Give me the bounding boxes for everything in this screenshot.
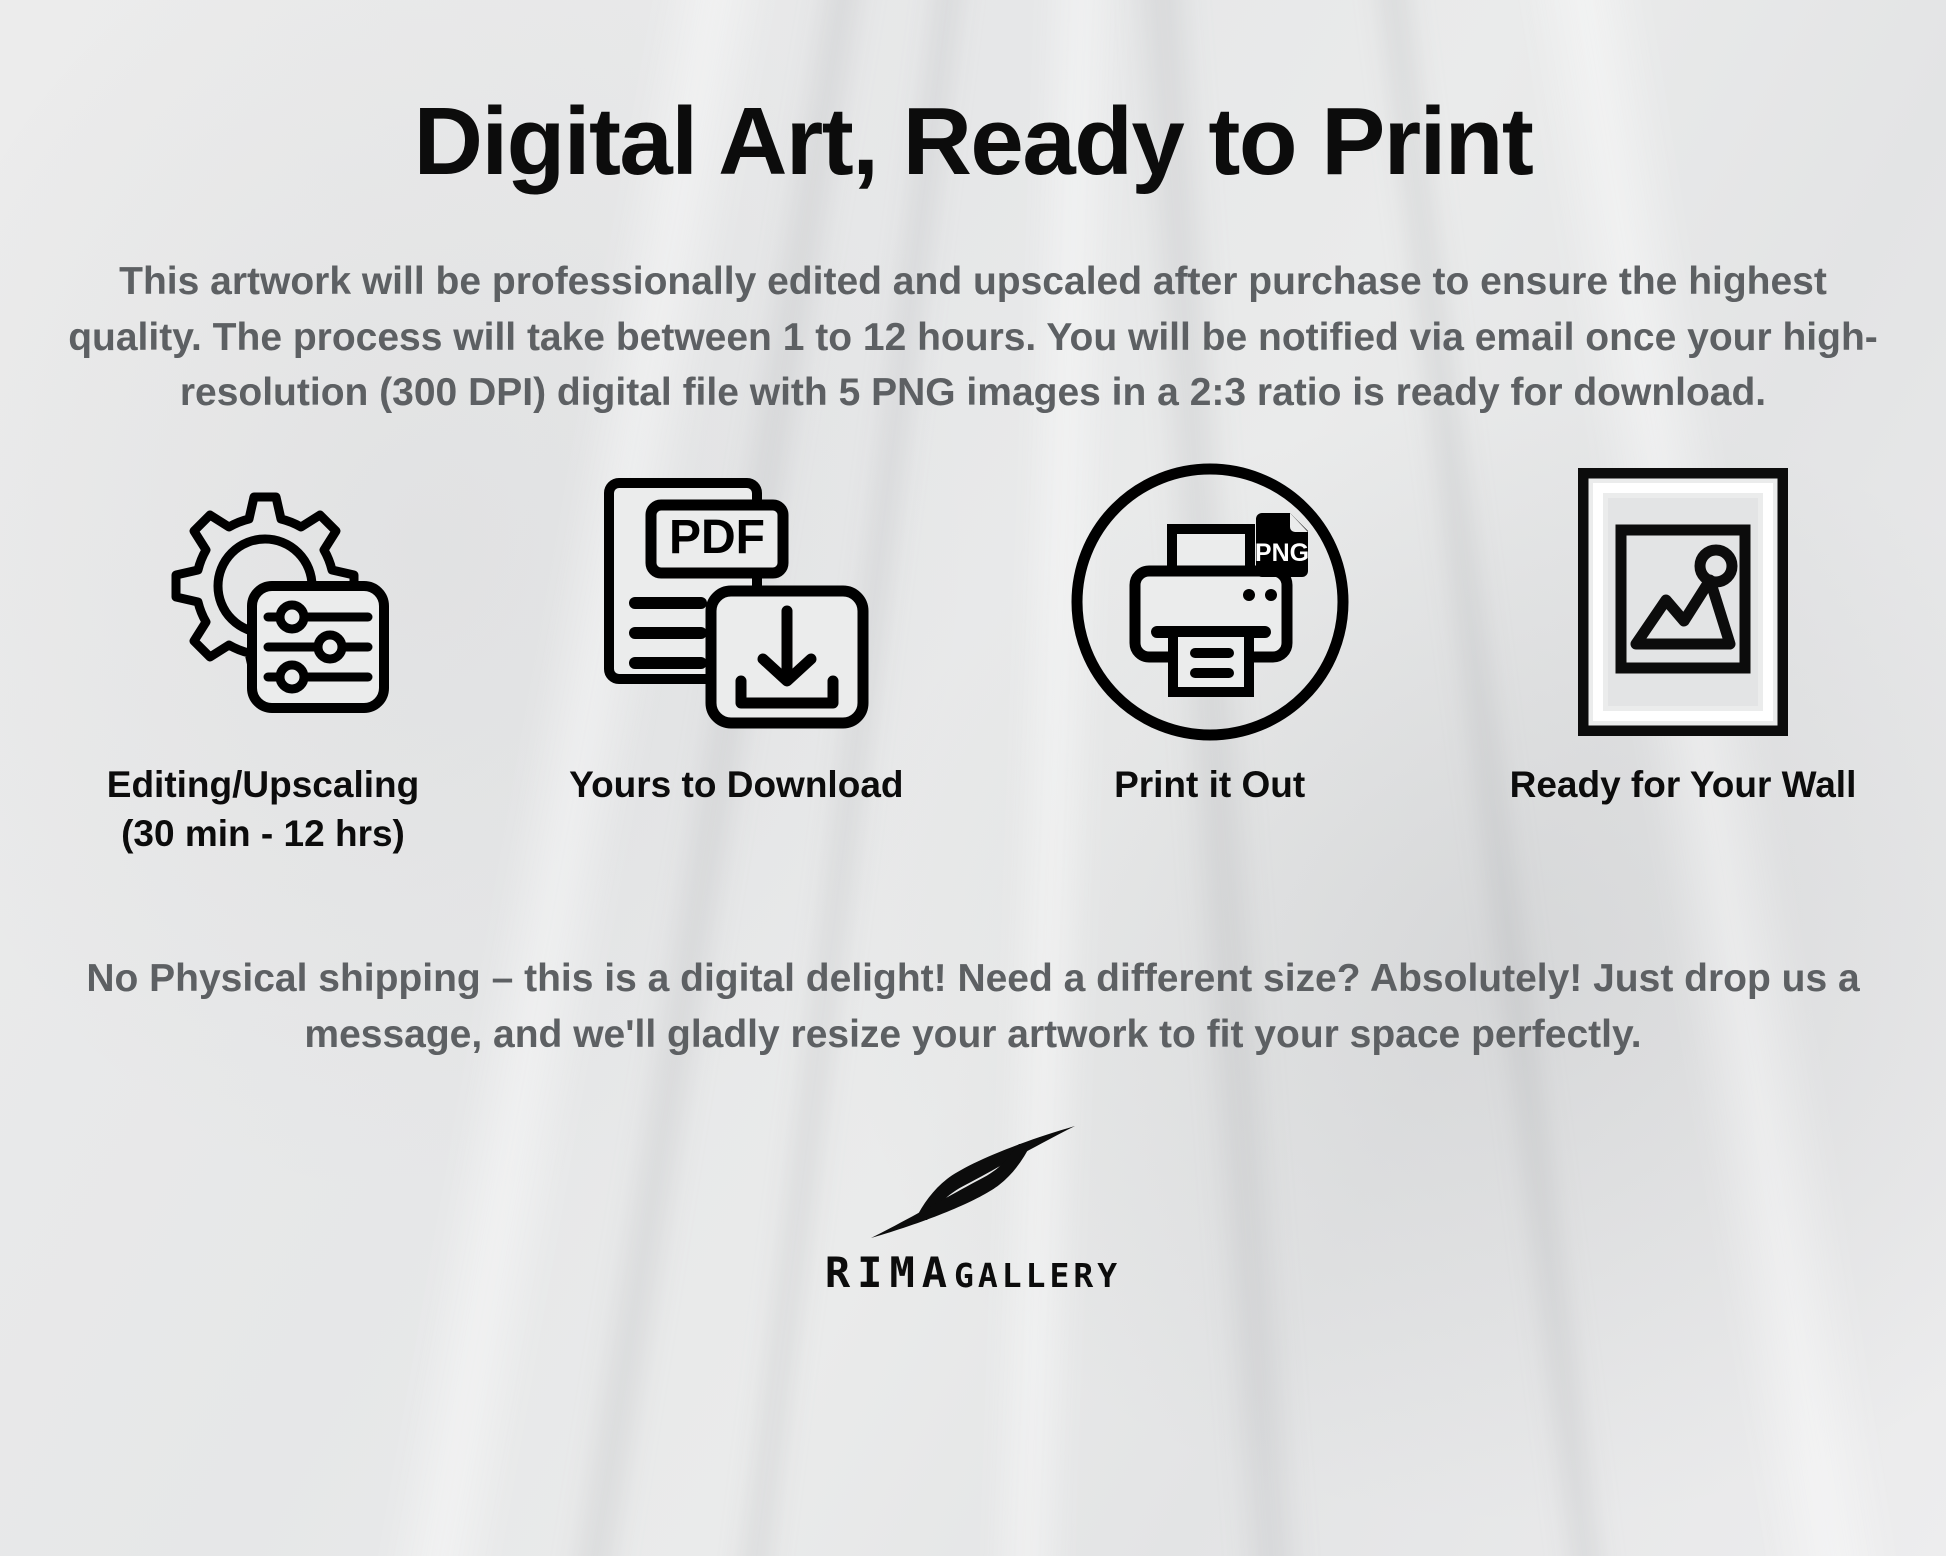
brand-logo: RIMA GALLERY [825, 1120, 1121, 1297]
icon-container [134, 471, 392, 733]
feature-label: Editing/Upscaling (30 min - 12 hrs) [107, 761, 419, 859]
shipping-note: No Physical shipping – this is a digital… [73, 951, 1873, 1064]
png-badge-label: PNG [1255, 539, 1309, 567]
logo-name-primary: RIMA [825, 1248, 954, 1297]
framed-picture-icon [1578, 468, 1788, 736]
icon-container: PNG [1069, 471, 1351, 733]
pdf-download-icon: PDF [601, 475, 871, 729]
feature-row: Editing/Upscaling (30 min - 12 hrs) PDF [43, 471, 1903, 859]
feature-label: Yours to Download [569, 761, 903, 810]
feature-label: Ready for Your Wall [1510, 761, 1857, 810]
gear-sliders-icon [134, 486, 392, 718]
feature-print-it-out: PNG Print it Out [990, 471, 1430, 810]
logo-wordmark: RIMA GALLERY [825, 1248, 1121, 1297]
icon-container [1578, 471, 1788, 733]
feature-label: Print it Out [1114, 761, 1305, 810]
icon-container: PDF [601, 471, 871, 733]
printer-png-icon: PNG [1069, 461, 1351, 743]
logo-name-secondary: GALLERY [954, 1256, 1121, 1295]
pdf-badge-label: PDF [669, 511, 765, 564]
rima-swoosh-icon [853, 1120, 1093, 1244]
promo-card: Digital Art, Ready to Print This artwork… [0, 0, 1946, 1556]
feature-ready-for-wall: Ready for Your Wall [1463, 471, 1903, 810]
page-title: Digital Art, Ready to Print [414, 92, 1533, 192]
feature-editing-upscaling: Editing/Upscaling (30 min - 12 hrs) [43, 471, 483, 859]
feature-yours-to-download: PDF Yours to Download [516, 471, 956, 810]
intro-paragraph: This artwork will be professionally edit… [58, 254, 1888, 421]
